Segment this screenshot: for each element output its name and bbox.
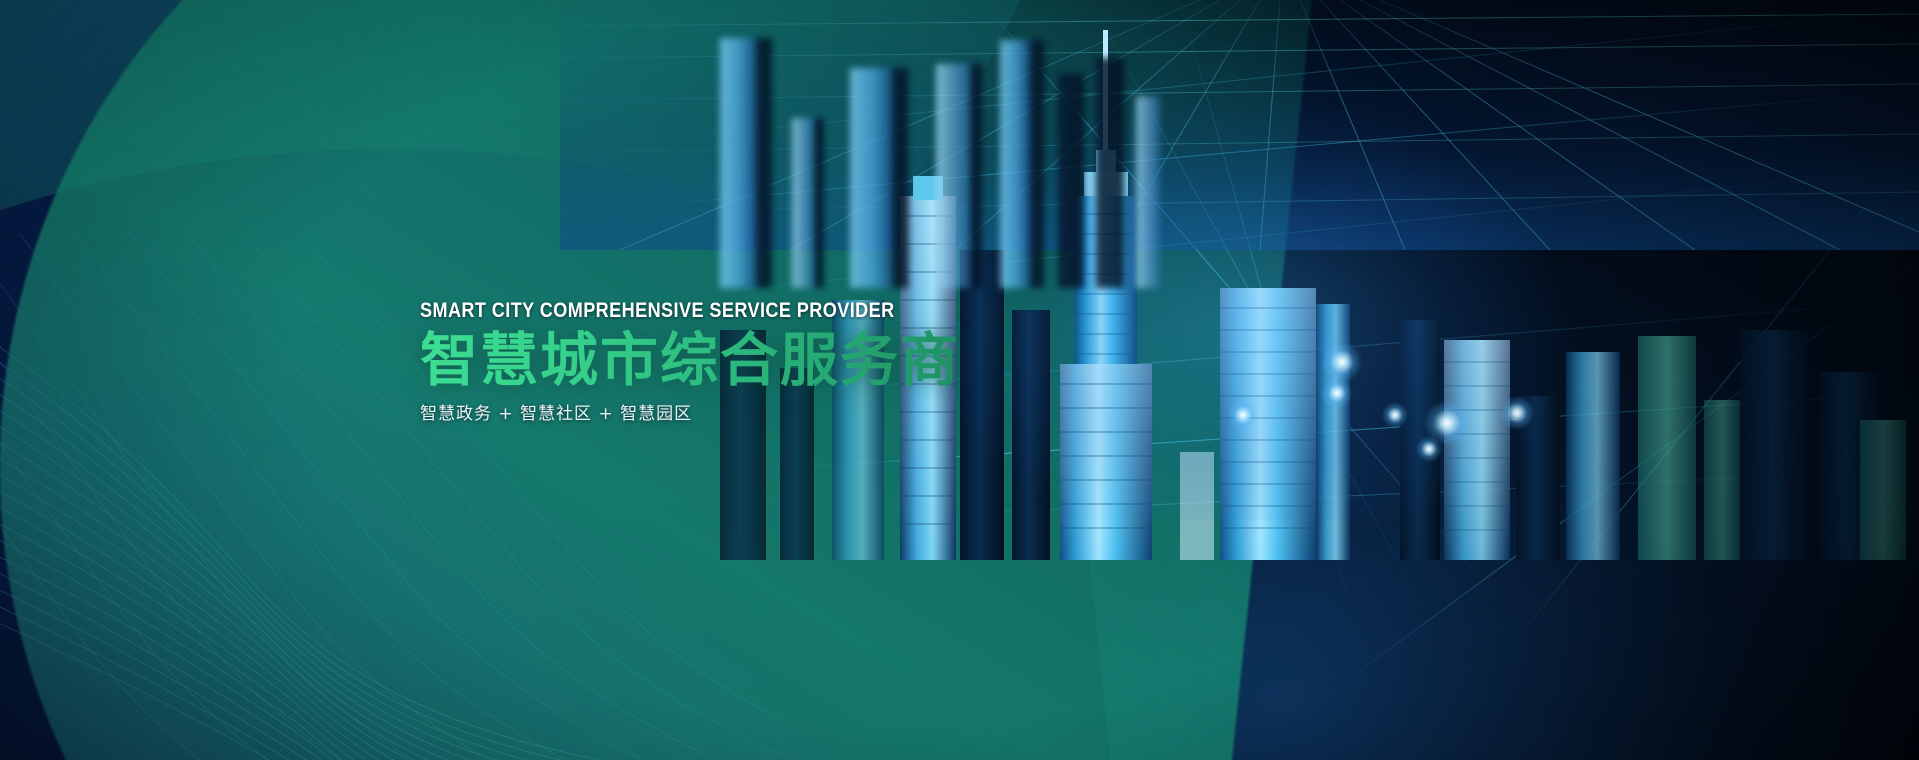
light-flare-icon bbox=[1500, 396, 1534, 430]
light-flare-icon bbox=[1382, 402, 1408, 428]
hero-subline: 智慧政务 + 智慧社区 + 智慧园区 bbox=[420, 406, 1080, 423]
light-flare-icon bbox=[1416, 436, 1442, 462]
city-glow bbox=[880, 0, 1640, 520]
smart-city-hero-banner: SMART CITY COMPREHENSIVE SERVICE PROVIDE… bbox=[0, 0, 1919, 760]
foreground-blocks bbox=[700, 0, 1400, 300]
hero-eyebrow: SMART CITY COMPREHENSIVE SERVICE PROVIDE… bbox=[420, 300, 988, 321]
hero-headline: 智慧城市综合服务商 bbox=[420, 329, 1080, 392]
light-flare-icon bbox=[1228, 400, 1258, 430]
light-flare-icon bbox=[1322, 378, 1352, 408]
ground-haze bbox=[560, 0, 1919, 250]
light-flare-icon bbox=[1322, 342, 1362, 382]
hero-copy-block: SMART CITY COMPREHENSIVE SERVICE PROVIDE… bbox=[420, 300, 1080, 423]
city-skyline-graphic bbox=[660, 0, 1919, 560]
perspective-ground-grid bbox=[560, 0, 1919, 250]
light-flare-icon bbox=[1424, 400, 1470, 446]
